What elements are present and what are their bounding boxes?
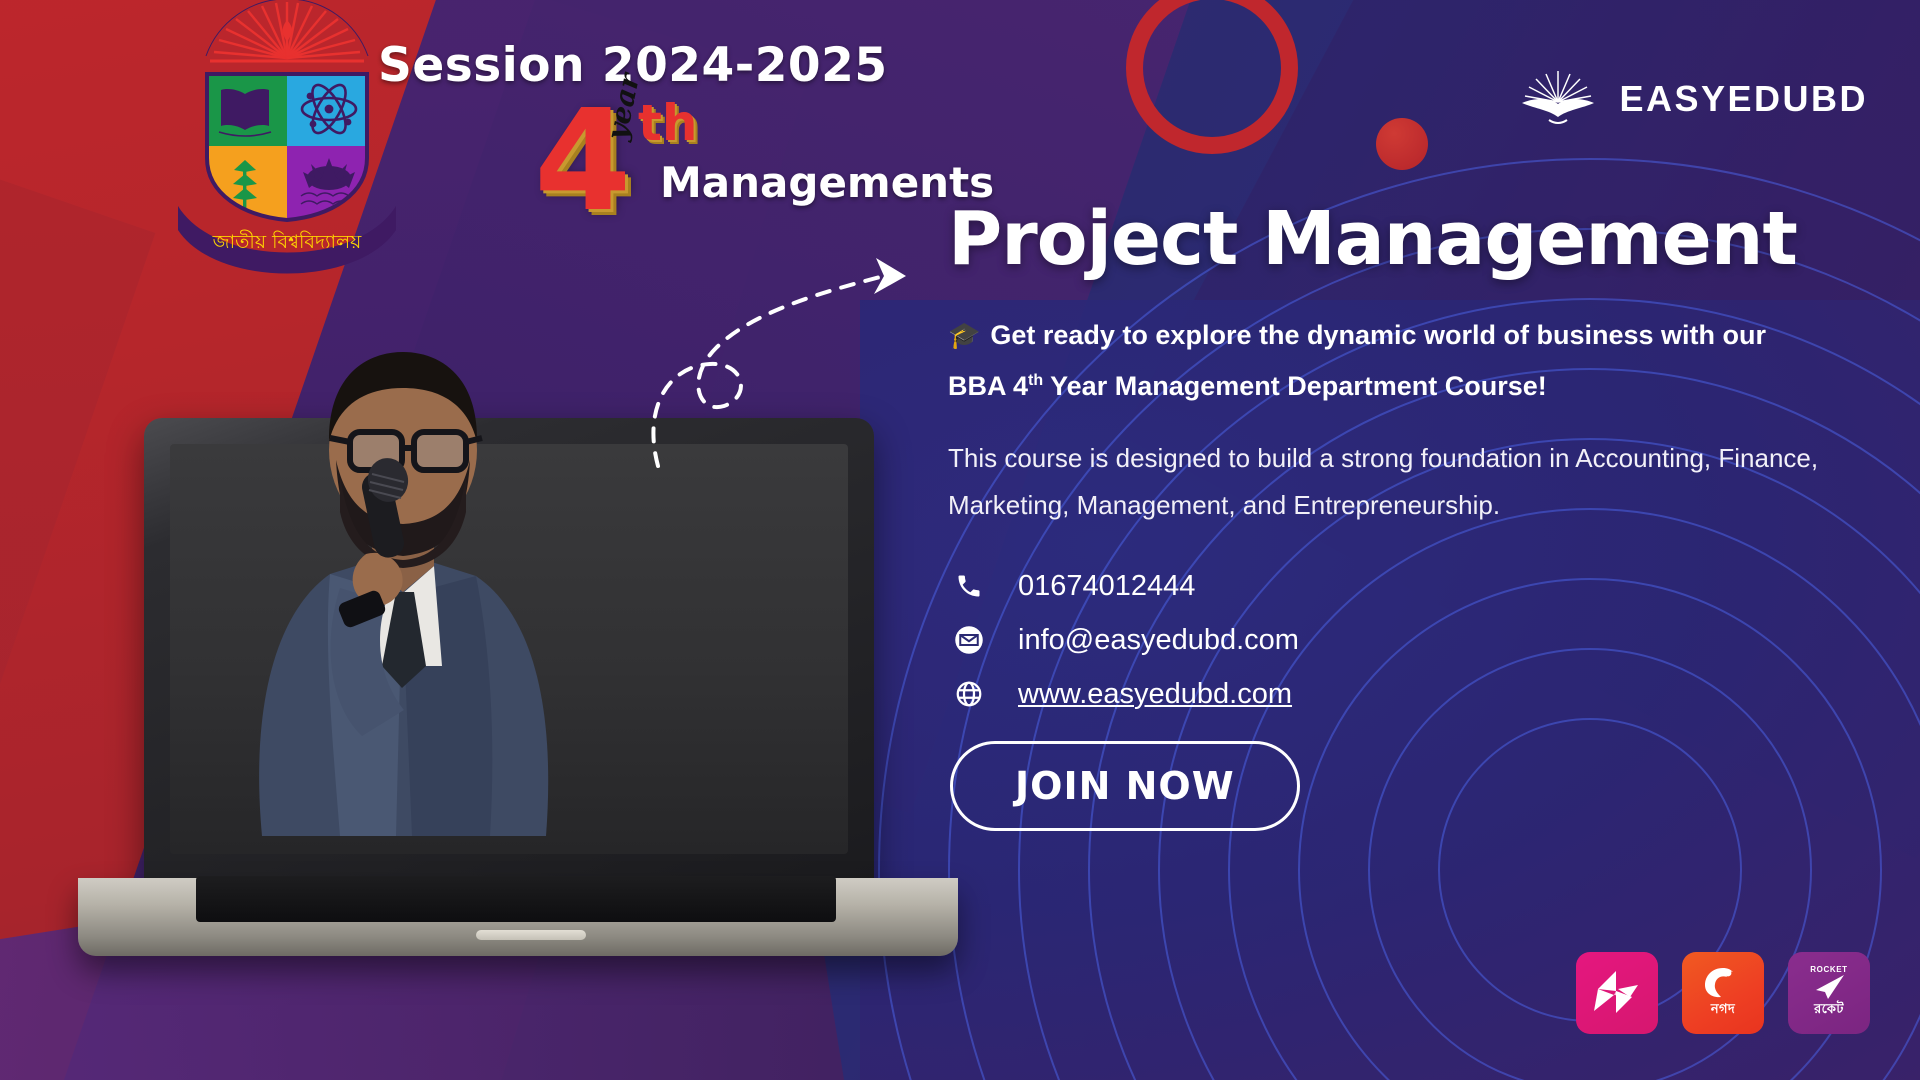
promo-banner: জাতীয় বিশ্ববিদ্যালয় Session 2024-2025 …	[0, 0, 1920, 1080]
description-paragraph: This course is designed to build a stron…	[948, 435, 1828, 529]
page-title: Project Management	[948, 196, 1828, 282]
laptop-trackpad	[476, 930, 586, 940]
lead-ordinal: th	[1028, 372, 1043, 389]
department-label: Managements	[660, 158, 994, 207]
lead-text-part2: Year Management Department Course!	[1043, 371, 1547, 401]
contact-row-email[interactable]: info@easyedubd.com	[952, 623, 1828, 657]
brand-logo[interactable]: EASYEDUBD	[1519, 70, 1868, 128]
lead-paragraph: 🎓Get ready to explore the dynamic world …	[948, 312, 1828, 409]
university-crest: জাতীয় বিশ্ববিদ্যালয়	[172, 0, 402, 274]
brand-name: EASYEDUBD	[1619, 78, 1868, 120]
join-now-button[interactable]: JOIN NOW	[950, 741, 1300, 831]
laptop-keyboard	[196, 876, 836, 922]
rocket-label: রকেট	[1814, 1000, 1844, 1021]
red-dot-decoration	[1376, 118, 1428, 170]
website-url[interactable]: www.easyedubd.com	[1018, 678, 1292, 711]
contact-row-website[interactable]: www.easyedubd.com	[952, 677, 1828, 711]
presenter-with-microphone	[190, 236, 620, 836]
open-book-sunrise-icon	[1519, 70, 1597, 128]
phone-number: 01674012444	[1018, 570, 1195, 603]
contact-list: 01674012444 info@easyedubd.com	[952, 569, 1828, 711]
payment-methods: নগদ ROCKET রকেট	[1576, 952, 1870, 1034]
nagad-label: নগদ	[1711, 1000, 1735, 1021]
phone-icon	[952, 569, 986, 603]
nagad-logo[interactable]: নগদ	[1682, 952, 1764, 1034]
contact-row-phone[interactable]: 01674012444	[952, 569, 1828, 603]
dashed-arrow-pointer	[640, 236, 940, 486]
globe-icon	[952, 677, 986, 711]
bkash-logo[interactable]	[1576, 952, 1658, 1034]
graduation-cap-icon: 🎓	[948, 320, 980, 350]
envelope-icon	[952, 623, 986, 657]
email-address: info@easyedubd.com	[1018, 624, 1299, 657]
crest-rays-icon	[192, 0, 382, 72]
content-column: Project Management 🎓Get ready to explore…	[948, 196, 1828, 831]
year-badge-ordinal: th	[638, 94, 698, 152]
rocket-logo[interactable]: ROCKET রকেট	[1788, 952, 1870, 1034]
rocket-sub-label: ROCKET	[1810, 965, 1847, 974]
